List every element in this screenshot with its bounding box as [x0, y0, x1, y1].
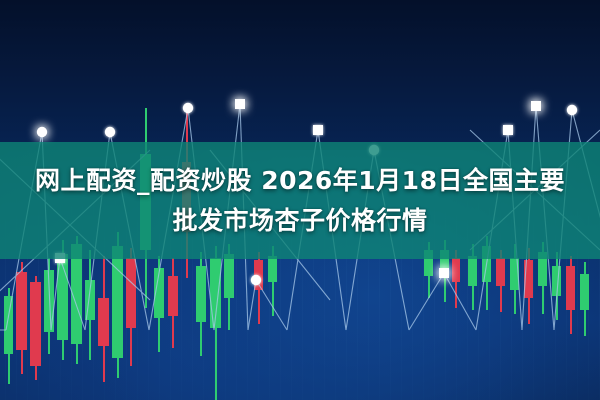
banner-image: 网上配资_配资炒股 2026年1月18日全国主要 批发市场杏子价格行情: [0, 0, 600, 400]
network-line: [409, 273, 444, 330]
title-line-2: 批发市场杏子价格行情: [172, 201, 427, 241]
network-node-circle: [251, 275, 261, 285]
network-node-circle: [37, 127, 47, 137]
network-node-square: [531, 101, 541, 111]
title-band: 网上配资_配资炒股 2026年1月18日全国主要 批发市场杏子价格行情: [0, 142, 600, 259]
network-node-square: [313, 125, 323, 135]
network-node-square: [439, 268, 449, 278]
network-node-circle: [567, 105, 577, 115]
network-line: [444, 273, 476, 330]
network-line: [256, 280, 287, 330]
network-node-circle: [105, 127, 115, 137]
network-node-square: [235, 99, 245, 109]
network-node-circle: [183, 103, 193, 113]
network-line: [51, 258, 60, 330]
network-line: [60, 258, 85, 330]
title-line-1: 网上配资_配资炒股 2026年1月18日全国主要: [35, 161, 565, 201]
network-node-square: [503, 125, 513, 135]
network-line: [248, 280, 256, 330]
